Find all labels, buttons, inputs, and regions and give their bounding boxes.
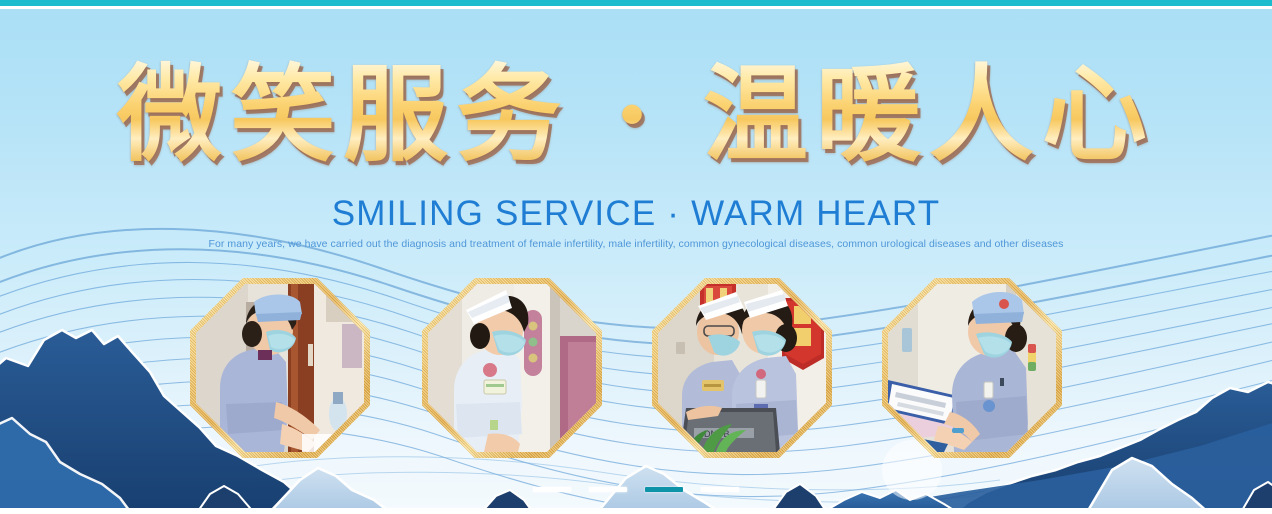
carousel-dot-3[interactable]: [645, 487, 683, 492]
top-white-gap: [0, 6, 1272, 9]
hero-banner: 微笑服务 · 温暖人心 SMILING SERVICE · WARM HEART…: [0, 0, 1272, 514]
bottom-white-strip: [0, 508, 1272, 514]
photo-nurse-washing-hands: [196, 284, 364, 452]
photo-nurse-reading-chart: [888, 284, 1056, 452]
carousel-indicators[interactable]: [0, 484, 1272, 494]
top-accent-bar: [0, 0, 1272, 6]
photo-frame-2[interactable]: [422, 278, 602, 458]
carousel-dot-2[interactable]: [589, 487, 627, 492]
banner-tagline: For many years, we have carried out the …: [0, 237, 1272, 251]
headline-english: SMILING SERVICE · WARM HEART: [0, 192, 1272, 236]
photo-two-nurses-at-computer: DNUB: [658, 284, 826, 452]
photo-frame-4[interactable]: [882, 278, 1062, 458]
photo-frame-1[interactable]: [190, 278, 370, 458]
carousel-dot-4[interactable]: [701, 487, 739, 492]
carousel-dot-1[interactable]: [533, 487, 571, 492]
photo-nurse-standing-corridor: [428, 284, 596, 452]
photo-frame-3[interactable]: DNUB: [652, 278, 832, 458]
headline-chinese: 微笑服务 · 温暖人心: [0, 58, 1272, 170]
